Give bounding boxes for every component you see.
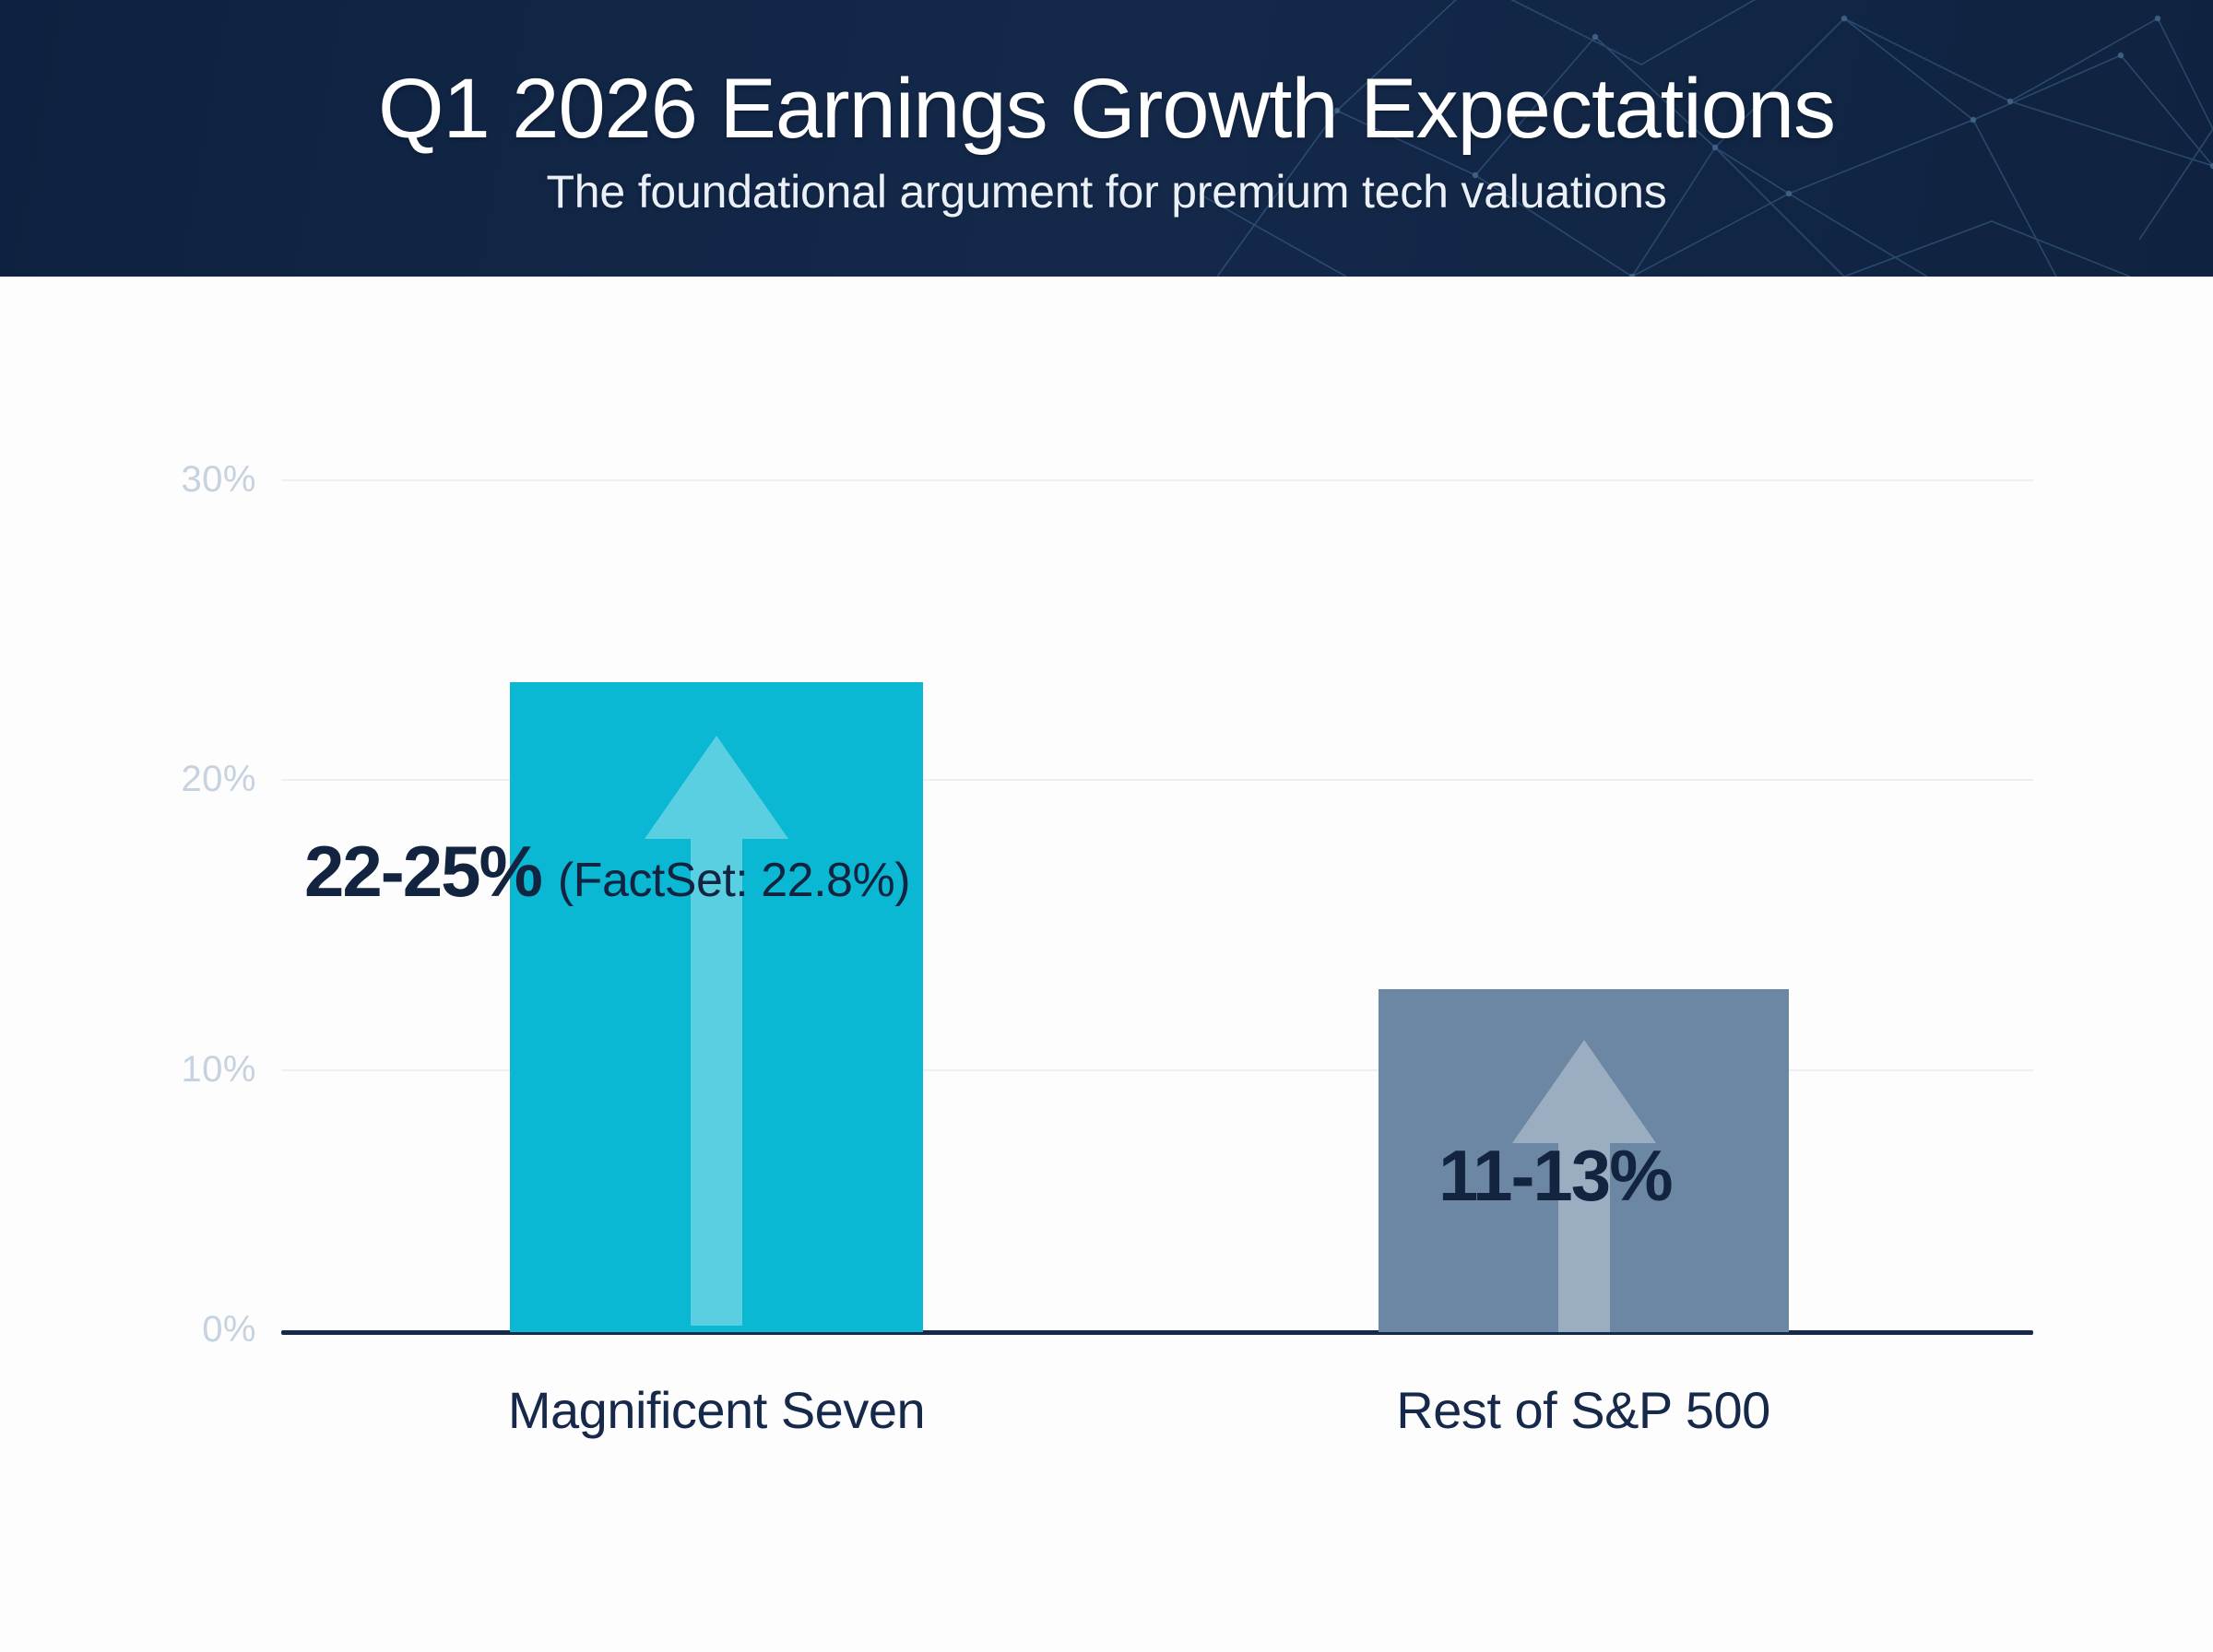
y-tick-label-20: 20% [35,759,256,800]
category-label-magnificent-seven: Magnificent Seven [418,1380,1015,1440]
page-subtitle: The foundational argument for premium te… [546,168,1666,217]
gridline-30 [281,479,2033,481]
header-banner: Q1 2026 Earnings Growth Expectations The… [0,0,2213,277]
bar-value-primary: 11-13% [1438,1134,1672,1218]
y-tick-label-10: 10% [35,1049,256,1091]
y-tick-label-0: 0% [35,1309,256,1351]
up-arrow-icon [643,736,790,1326]
bar-value-annotation: (FactSet: 22.8%) [558,853,910,908]
plot-area: 30% 20% 10% 0% 22-25% (FactSet: 22.8%) M… [0,277,2213,1652]
bar-value-label-magnificent-seven: 22-25% (FactSet: 22.8%) [304,830,910,914]
bar-value-primary: 22-25% [304,830,541,914]
bar-chart: 30% 20% 10% 0% 22-25% (FactSet: 22.8%) M… [0,277,2213,1652]
slide-root: Q1 2026 Earnings Growth Expectations The… [0,0,2213,1652]
page-title: Q1 2026 Earnings Growth Expectations [378,61,1835,153]
bar-magnificent-seven[interactable] [510,682,923,1332]
category-label-rest-of-sp500: Rest of S&P 500 [1284,1380,1882,1440]
bar-value-label-rest-of-sp500: 11-13% [1438,1134,1688,1218]
y-tick-label-30: 30% [35,459,256,501]
